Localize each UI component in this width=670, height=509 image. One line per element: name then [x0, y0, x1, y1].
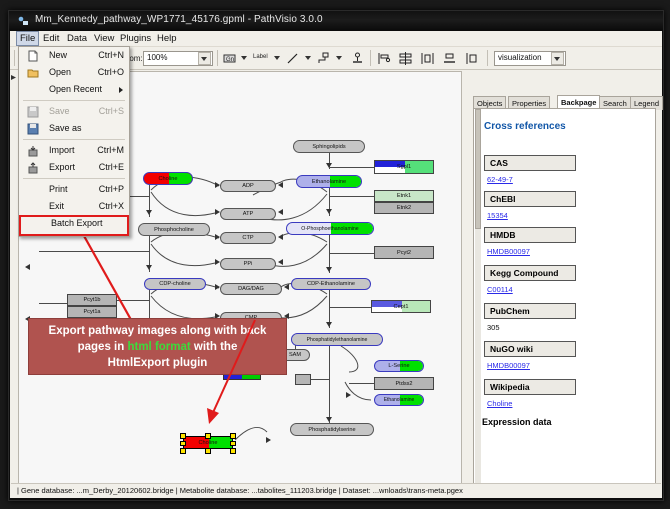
- callout-line-3: HtmlExport plugin: [108, 357, 208, 369]
- selection-handle[interactable]: [180, 441, 186, 447]
- selection-handle[interactable]: [205, 448, 211, 454]
- save-disk-icon: [27, 106, 39, 118]
- interaction-dropdown-icon[interactable]: [336, 56, 342, 60]
- window-title: Mm_Kennedy_pathway_WP1771_45176.gpml - P…: [35, 14, 323, 25]
- chevron-down-icon[interactable]: [198, 52, 211, 65]
- menu-bar: File Edit Data View Plugins Help: [10, 31, 662, 47]
- side-panel-tabs: Objects Properties Backpage Search Legen…: [473, 95, 654, 109]
- menu-separator: [23, 139, 125, 140]
- menu-item-exit[interactable]: Exit Ctrl+X: [19, 198, 129, 215]
- title-bar: Mm_Kennedy_pathway_WP1771_45176.gpml - P…: [9, 11, 663, 31]
- menu-item-export[interactable]: Export Ctrl+E: [19, 159, 129, 176]
- gene-pcyt1b[interactable]: Pcyt1b: [67, 294, 117, 306]
- gene-dropdown-icon[interactable]: [241, 56, 247, 60]
- gene-cept1[interactable]: Cept1: [371, 300, 431, 313]
- xref-label-hmdb: HMDB: [484, 227, 576, 243]
- xref-value-hmdb[interactable]: HMDB00097: [487, 247, 530, 256]
- align-left-icon[interactable]: [376, 51, 391, 66]
- group-icon[interactable]: [464, 51, 479, 66]
- xref-value-pubchem: 305: [487, 323, 500, 332]
- open-folder-icon: [27, 67, 39, 79]
- callout-line-1: Export pathway images along with back: [49, 325, 267, 337]
- zoom-value: 100%: [147, 53, 167, 62]
- xref-label-chebi: ChEBI: [484, 191, 576, 207]
- label-dropdown-icon[interactable]: [274, 56, 280, 60]
- selection-handle[interactable]: [180, 433, 186, 439]
- menu-item-save-as[interactable]: Save as: [19, 120, 129, 137]
- anchor-tool-icon[interactable]: [350, 51, 365, 66]
- gene-product-icon[interactable]: Gn: [222, 51, 237, 66]
- menu-item-save: Save Ctrl+S: [19, 103, 129, 120]
- interaction-tool-icon[interactable]: [316, 51, 331, 66]
- menu-file[interactable]: File: [16, 31, 39, 46]
- menu-item-import[interactable]: Import Ctrl+M: [19, 142, 129, 159]
- selection-handle[interactable]: [230, 448, 236, 454]
- visualization-chevron-down-icon[interactable]: [551, 52, 564, 65]
- gene-pcyt1a[interactable]: Pcyt1a: [67, 306, 117, 318]
- gene-sgpl1[interactable]: Sgpl1: [374, 160, 434, 174]
- callout-line-2a: pages in: [78, 341, 128, 353]
- node-cdp-choline[interactable]: CDP-choline: [144, 278, 206, 290]
- gene-ptdss2[interactable]: Ptdss2: [374, 377, 434, 390]
- application-window: Mm_Kennedy_pathway_WP1771_45176.gpml - P…: [8, 10, 664, 501]
- node-phosphatidylserine[interactable]: Phosphatidylserine: [290, 423, 374, 436]
- gene-etnk2[interactable]: Etnk2: [374, 202, 434, 214]
- line-dropdown-icon[interactable]: [305, 56, 311, 60]
- distribute-icon[interactable]: [420, 51, 435, 66]
- node-atp[interactable]: ATP: [220, 208, 276, 220]
- visualization-combo[interactable]: visualization: [494, 51, 566, 66]
- gene-pcyt2[interactable]: Pcyt2: [374, 246, 434, 259]
- backpage-scrollbar[interactable]: [475, 109, 481, 483]
- selection-handle[interactable]: [230, 441, 236, 447]
- xref-label-kegg: Kegg Compound: [484, 265, 576, 281]
- pathvisio-icon: [18, 16, 29, 26]
- side-panel: Objects Properties Backpage Search Legen…: [465, 71, 654, 482]
- window-body: File Edit Data View Plugins Help Zoom: 1…: [10, 31, 662, 498]
- node-o-phosphoethanolamine[interactable]: O-Phosphoethanolamine: [286, 222, 374, 235]
- node-phosphatidylethanolamine[interactable]: Phosphatidylethanolamine: [291, 333, 383, 346]
- annotation-callout: Export pathway images along with back pa…: [28, 318, 287, 375]
- status-text: | Gene database: ...m_Derby_20120602.bri…: [17, 486, 463, 495]
- expression-data-heading: Expression data: [482, 417, 552, 427]
- menu-view[interactable]: View: [90, 32, 118, 45]
- menu-separator: [23, 178, 125, 179]
- screenshot-root: Mm_Kennedy_pathway_WP1771_45176.gpml - P…: [0, 0, 670, 509]
- node-adp[interactable]: ADP: [220, 180, 276, 192]
- xref-value-cas[interactable]: 62-49-7: [487, 175, 513, 184]
- selection-handle[interactable]: [230, 433, 236, 439]
- xref-value-nugo[interactable]: HMDB00097: [487, 361, 530, 370]
- save-as-icon: [27, 123, 39, 135]
- file-menu-popup[interactable]: New Ctrl+N Open Ctrl+O Open Recent Save …: [18, 46, 130, 237]
- xref-value-chebi[interactable]: 15354: [487, 211, 508, 220]
- node-phosphocholine[interactable]: Phosphocholine: [138, 223, 210, 236]
- export-icon: [27, 162, 39, 174]
- align-center-icon[interactable]: [398, 51, 413, 66]
- node-ethanolamine-bottom[interactable]: Ethanolamine: [374, 394, 424, 406]
- menu-plugins[interactable]: Plugins: [116, 32, 155, 45]
- expand-arrow-icon[interactable]: [11, 75, 16, 80]
- node-choline-top[interactable]: Choline: [143, 172, 193, 185]
- node-ppi[interactable]: PPi: [220, 258, 276, 270]
- menu-data[interactable]: Data: [63, 32, 91, 45]
- menu-item-new[interactable]: New Ctrl+N: [19, 47, 129, 64]
- node-ctp[interactable]: CTP: [220, 232, 276, 244]
- chevron-right-icon: [119, 87, 123, 93]
- cross-references-heading: Cross references: [484, 121, 566, 132]
- visualization-value: visualization: [498, 53, 542, 62]
- callout-line-2b: with the: [191, 341, 238, 353]
- menu-item-open-recent[interactable]: Open Recent: [19, 81, 129, 98]
- node-sphingolipids[interactable]: Sphingolipids: [293, 140, 365, 153]
- line-tool-icon[interactable]: [285, 51, 300, 66]
- menu-help[interactable]: Help: [153, 32, 181, 45]
- node-cdp-ethanolamine[interactable]: CDP-Ethanolamine: [291, 278, 371, 290]
- left-edge-strip: [10, 71, 17, 482]
- zoom-combo[interactable]: 100%: [143, 51, 213, 66]
- xref-value-wikipedia[interactable]: Choline: [487, 399, 512, 408]
- gene-etnk1[interactable]: Etnk1: [374, 190, 434, 202]
- xref-label-cas: CAS: [484, 155, 576, 171]
- status-bar: | Gene database: ...m_Derby_20120602.bri…: [11, 483, 661, 498]
- xref-label-wikipedia: Wikipedia: [484, 379, 576, 395]
- node-dag[interactable]: DAG/DAG: [220, 283, 282, 295]
- new-document-icon: [27, 50, 39, 62]
- callout-highlight: html format: [127, 341, 190, 353]
- selection-handle[interactable]: [180, 448, 186, 454]
- xref-value-kegg[interactable]: C00114: [487, 285, 513, 294]
- svg-text:Gn: Gn: [226, 57, 234, 63]
- xref-label-pubchem: PubChem: [484, 303, 576, 319]
- node-l-serine[interactable]: L-Serine: [374, 360, 424, 372]
- label-tool-text[interactable]: Label: [253, 54, 268, 60]
- menu-edit[interactable]: Edit: [39, 32, 63, 45]
- node-ethanolamine-top[interactable]: Ethanolamine: [296, 175, 362, 188]
- backpage-content: Cross references CAS 62-49-7 ChEBI 15354…: [473, 108, 656, 484]
- xref-label-nugo: NuGO wiki: [484, 341, 576, 357]
- menu-separator: [23, 100, 125, 101]
- menu-item-print[interactable]: Print Ctrl+P: [19, 181, 129, 198]
- menu-item-batch-export[interactable]: Batch Export: [19, 215, 129, 236]
- stack-icon[interactable]: [442, 51, 457, 66]
- menu-item-open[interactable]: Open Ctrl+O: [19, 64, 129, 81]
- import-icon: [27, 145, 39, 157]
- scrollbar-thumb[interactable]: [475, 109, 481, 229]
- selection-handle[interactable]: [205, 433, 211, 439]
- state-node[interactable]: [295, 374, 311, 385]
